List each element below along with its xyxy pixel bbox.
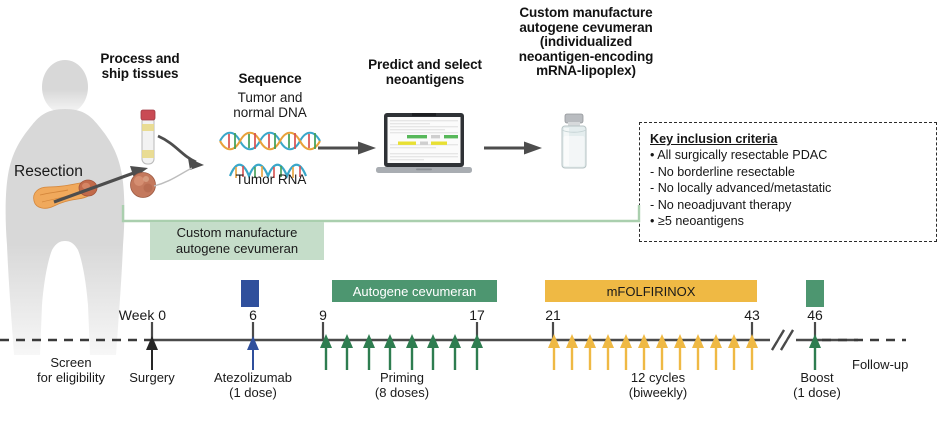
sequence-rna-label: Tumor RNA <box>208 172 334 187</box>
criteria-item: • ≥5 neoantigens <box>650 213 926 229</box>
arrow-sequence-to-predict <box>318 140 380 156</box>
sequence-dna-label: Tumor and normal DNA <box>205 90 335 120</box>
figure-canvas: Resection Process and ship tissues <box>0 0 952 422</box>
timeline-bar-autogene-cevumeran: Autogene cevumeran <box>332 280 497 302</box>
cycles-label: 12 cycles (biweekly) <box>598 370 718 400</box>
criteria-item: - No neoadjuvant therapy <box>650 197 926 213</box>
laptop-icon <box>376 113 472 179</box>
step-title-predict: Predict and select neoantigens <box>345 58 505 87</box>
vaccine-vial-icon <box>554 114 594 174</box>
step-title-sequence: Sequence <box>208 72 332 87</box>
timeline-bar-mfolfirinox: mFOLFIRINOX <box>545 280 757 302</box>
criteria-item: - No borderline resectable <box>650 164 926 180</box>
followup-label: Follow-up <box>852 357 948 372</box>
criteria-item: - No locally advanced/metastatic <box>650 180 926 196</box>
surgery-label: Surgery <box>112 370 192 385</box>
step-title-manufacture: Custom manufacture autogene cevumeran (i… <box>496 6 676 79</box>
priming-label: Priming (8 doses) <box>342 370 462 400</box>
boost-label: Boost (1 dose) <box>769 370 865 400</box>
manufacture-bracket-label: Custom manufacture autogene cevumeran <box>150 222 324 260</box>
step-title-process: Process and ship tissues <box>78 52 202 81</box>
atezolizumab-label: Atezolizumab (1 dose) <box>191 370 315 400</box>
dna-helix-icon <box>218 128 322 154</box>
criteria-item: • All surgically resectable PDAC <box>650 147 926 163</box>
arrow-predict-to-manufacture <box>484 140 546 156</box>
criteria-heading: Key inclusion criteria <box>650 131 926 147</box>
timeline-axis <box>0 300 952 370</box>
key-inclusion-criteria-box: Key inclusion criteria • All surgically … <box>639 122 937 242</box>
